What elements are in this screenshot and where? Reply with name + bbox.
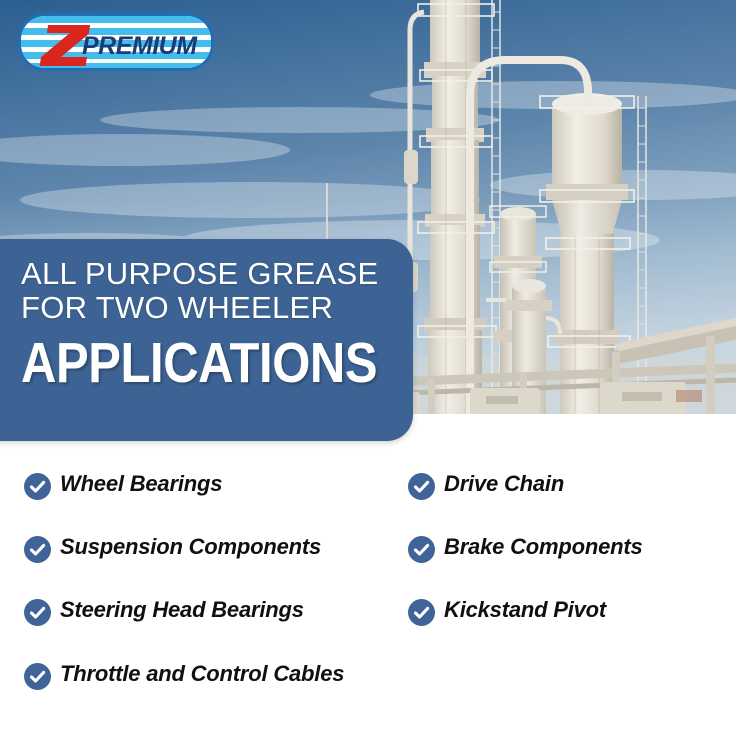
check-circle-icon [24,663,51,690]
feature-list: Wheel Bearings Suspension Components [0,452,736,736]
check-circle-icon [24,536,51,563]
list-item-label: Wheel Bearings [60,470,222,497]
list-item[interactable]: Kickstand Pivot [408,596,606,626]
list-item[interactable]: Brake Components [408,533,643,563]
list-item-label: Kickstand Pivot [444,596,606,623]
list-item-label: Suspension Components [60,533,321,560]
logo-wordmark-text: PREMIUM [82,32,198,60]
list-item[interactable]: Throttle and Control Cables [24,660,344,690]
banner-subtitle-line-2: FOR TWO WHEELER [21,291,400,325]
list-item-label: Brake Components [444,533,643,560]
poster-canvas: PREMIUM ALL PURPOSE GREASE FOR TWO WHEEL… [0,0,736,736]
check-circle-icon [24,473,51,500]
list-item[interactable]: Wheel Bearings [24,470,222,500]
banner-subtitle-line-1: ALL PURPOSE GREASE [21,257,400,291]
list-item[interactable]: Drive Chain [408,470,564,500]
check-circle-icon [408,536,435,563]
list-item-label: Steering Head Bearings [60,596,304,623]
list-item-label: Throttle and Control Cables [60,660,344,687]
banner-headline: APPLICATIONS [21,335,347,392]
title-banner: ALL PURPOSE GREASE FOR TWO WHEELER APPLI… [0,239,413,441]
check-circle-icon [408,599,435,626]
list-item[interactable]: Steering Head Bearings [24,596,304,626]
brand-logo[interactable]: PREMIUM [18,13,214,71]
list-item-label: Drive Chain [444,470,564,497]
check-circle-icon [408,473,435,500]
check-circle-icon [24,599,51,626]
list-item[interactable]: Suspension Components [24,533,321,563]
